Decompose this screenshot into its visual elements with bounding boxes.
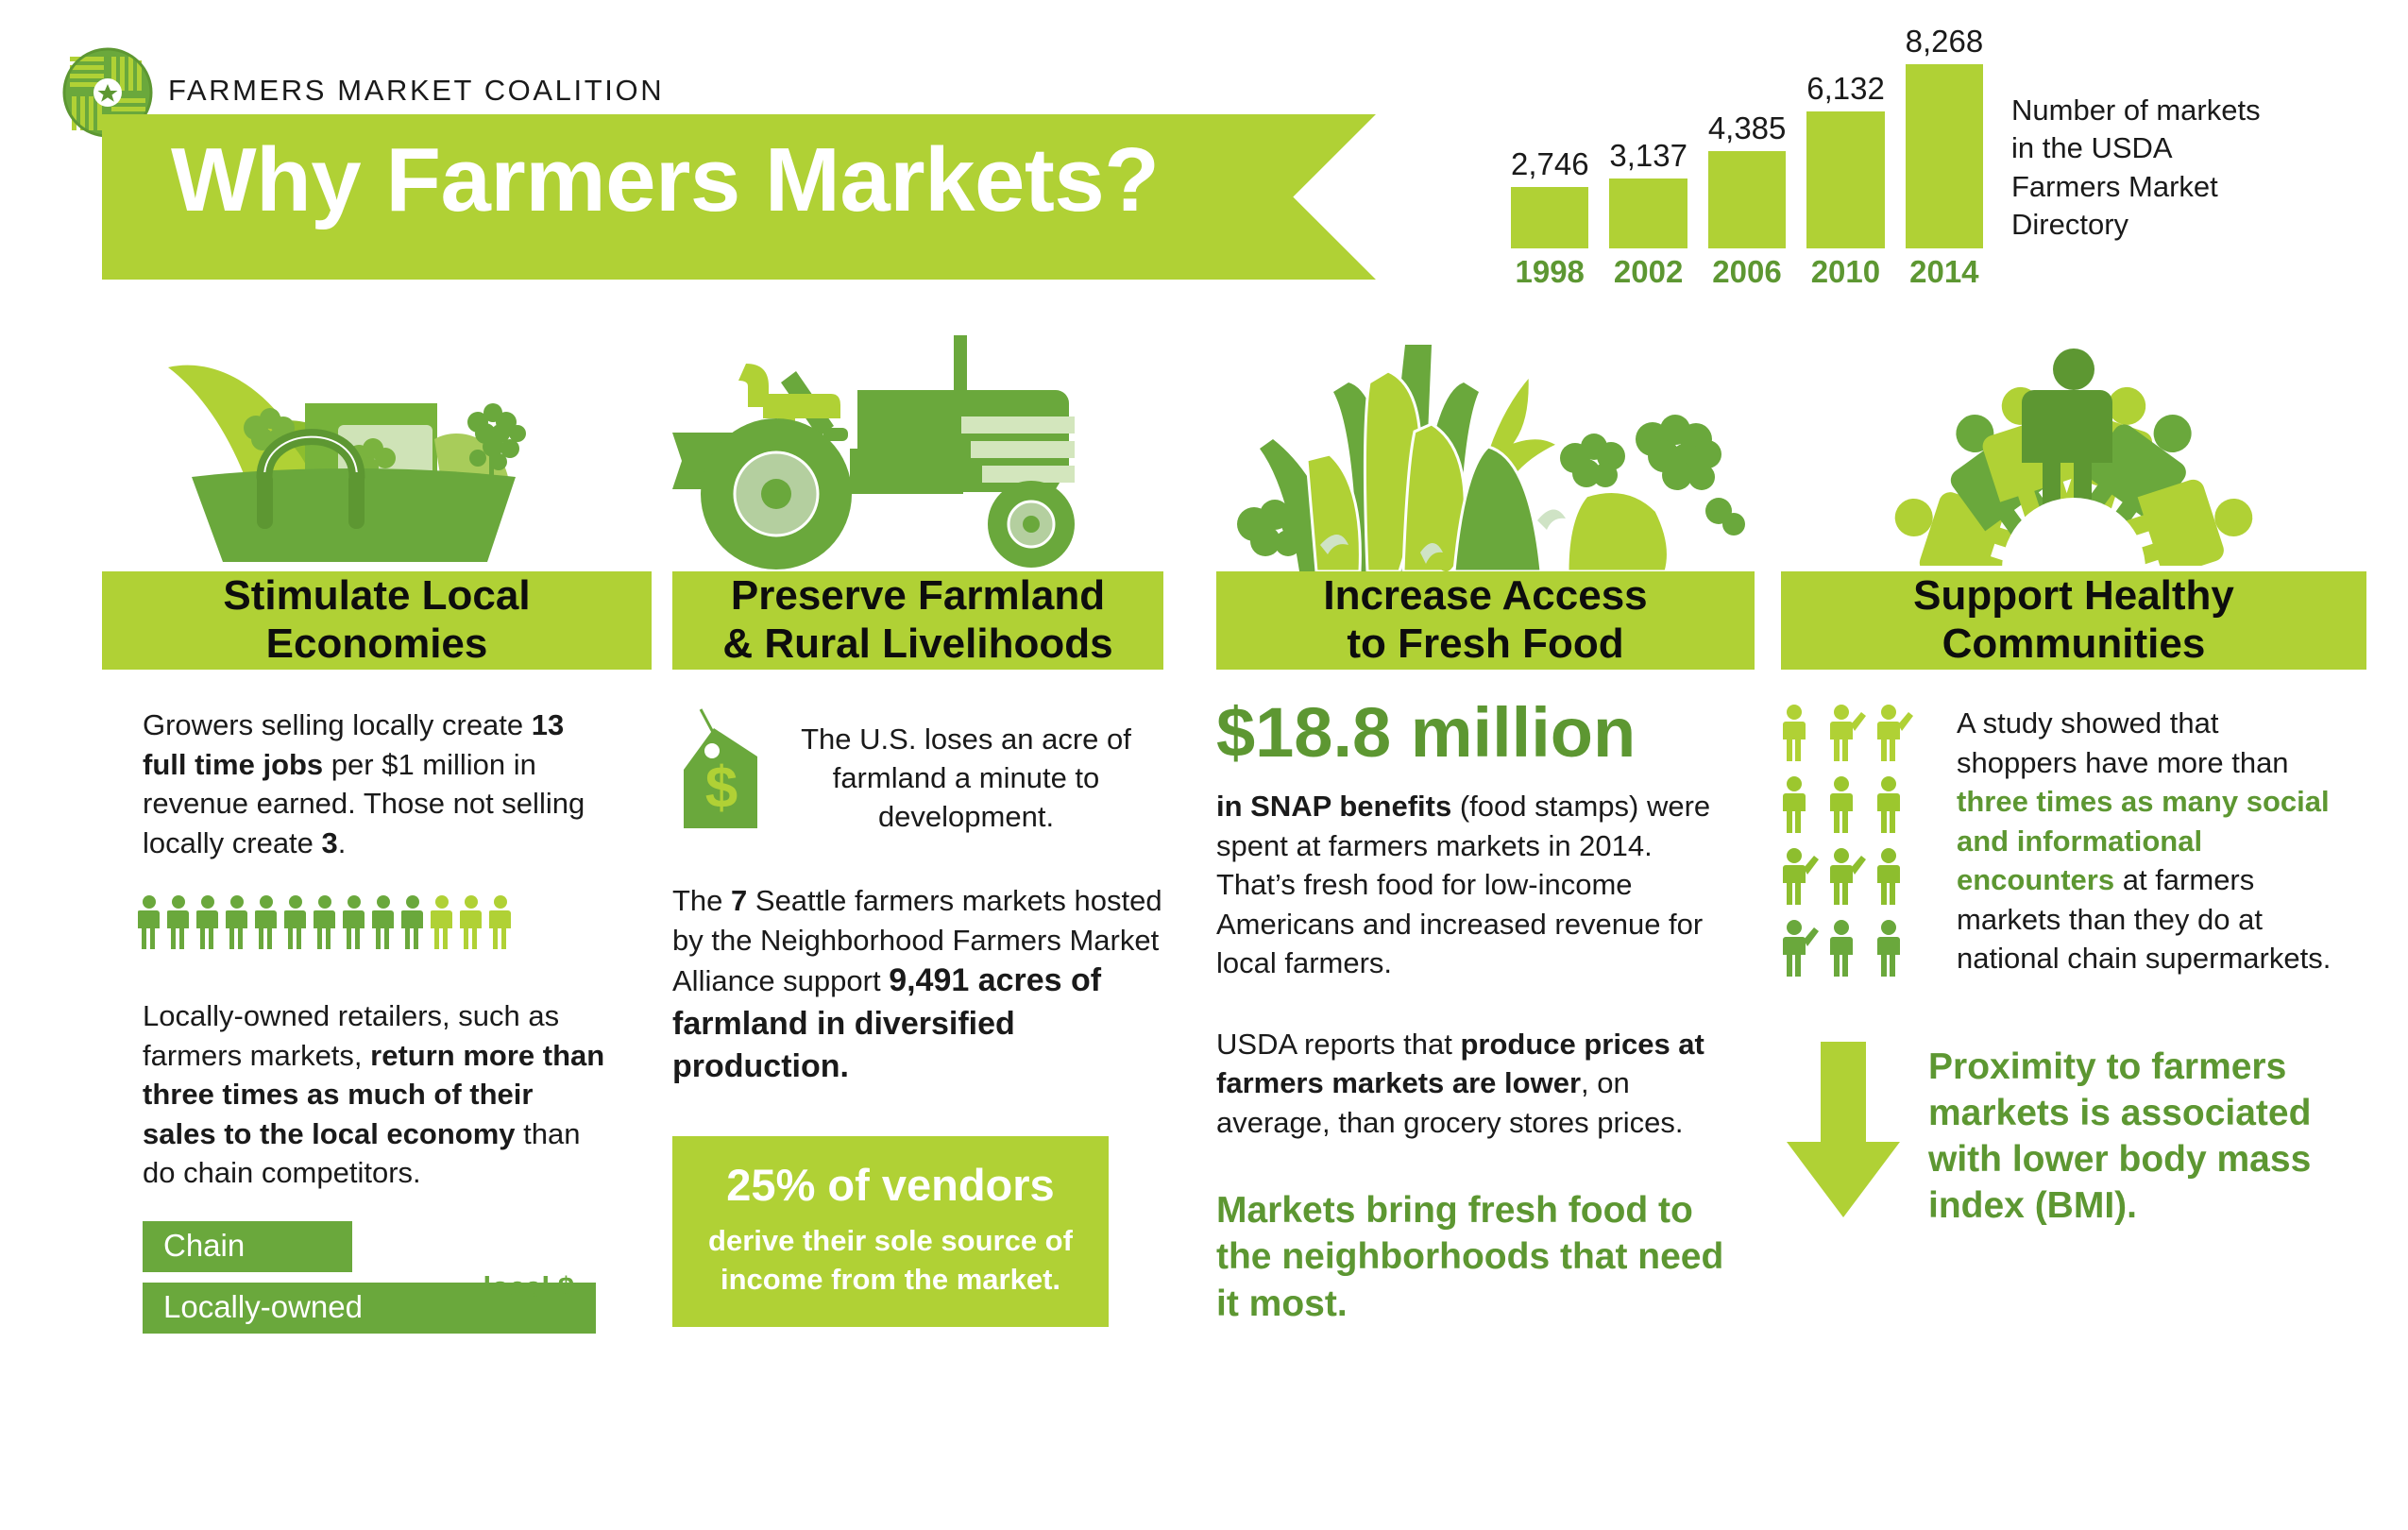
text-part: USDA reports that — [1216, 1028, 1460, 1061]
person-icon — [1875, 775, 1915, 834]
snap-big-number: $18.8 million — [1216, 698, 1755, 768]
local-dollar-axis-label: local $ — [483, 1270, 575, 1304]
heading-line-1: Stimulate Local — [223, 572, 530, 619]
person-icon — [1828, 919, 1868, 977]
person-icon — [489, 894, 512, 951]
person-icon — [1781, 704, 1821, 762]
bar-value-label: 2,746 — [1511, 146, 1588, 187]
person-icon — [167, 894, 190, 951]
text-bold: in SNAP benefits — [1216, 790, 1451, 823]
bar-value-label: 6,132 — [1806, 71, 1884, 111]
community-people-fan-icon — [1781, 335, 2366, 571]
callout-headline: 25% of vendors — [682, 1161, 1099, 1210]
pictogram-row — [1781, 704, 1932, 762]
usda-markets-bar-chart: 2,746 3,137 4,385 6,132 8,268 1998 200 — [1511, 52, 2002, 297]
column-increase-access: Increase Accessto Fresh Food $18.8 milli… — [1216, 335, 1755, 1327]
bar — [1511, 187, 1588, 248]
chain-vs-local-bar-comparison: Chain local $ Locally-owned — [102, 1221, 652, 1334]
x-tick-label: 2010 — [1806, 254, 1884, 290]
bar-column: 4,385 — [1708, 151, 1786, 248]
text-bold: 3 — [322, 826, 338, 859]
person-icon — [1875, 847, 1915, 906]
text-part: . — [338, 826, 347, 859]
x-tick-label: 2006 — [1708, 254, 1786, 290]
chart-caption: Number of markets in the USDA Farmers Ma… — [2011, 92, 2266, 244]
person-icon — [196, 894, 219, 951]
pictogram-row — [1781, 919, 1932, 977]
x-tick-label: 2002 — [1609, 254, 1687, 290]
heading-line-1: Support Healthy — [1913, 572, 2234, 619]
section-heading-increase-access: Increase Accessto Fresh Food — [1216, 571, 1755, 670]
pictogram-row — [1781, 847, 1932, 906]
paragraph-snap: in SNAP benefits (food stamps) were spen… — [1216, 787, 1726, 983]
bar-column: 3,137 — [1609, 178, 1687, 248]
person-icon — [1781, 919, 1821, 977]
person-icon — [226, 894, 248, 951]
section-heading-preserve-farmland: Preserve Farmland& Rural Livelihoods — [672, 571, 1163, 670]
bmi-text: Proximity to farmers markets is associat… — [1928, 1036, 2334, 1230]
paragraph-jobs: Growers selling locally create 13 full t… — [102, 705, 612, 862]
farmland-loss-callout: $ The U.S. loses an acre of farmland a m… — [672, 707, 1163, 840]
heading-line-1: Increase Access — [1323, 572, 1647, 619]
farmland-loss-text: The U.S. loses an acre of farmland a min… — [791, 707, 1141, 837]
infographic-canvas: FARMERS MARKET COALITION Why Farmers Mar… — [0, 0, 2408, 1530]
person-icon — [1828, 847, 1868, 906]
heading-line-2: Economies — [266, 620, 488, 667]
column-support-healthy-communities: Support HealthyCommunities — [1781, 335, 2366, 1230]
heading-line-1: Preserve Farmland — [731, 572, 1105, 619]
highlight-markets-bring-fresh-food: Markets bring fresh food to the neighbor… — [1216, 1187, 1726, 1326]
person-icon — [431, 894, 453, 951]
title-banner: Why Farmers Markets? — [102, 114, 1376, 280]
page-title: Why Farmers Markets? — [171, 135, 1159, 226]
people-pictogram-13-jobs — [102, 894, 652, 951]
paragraph-seattle-markets: The 7 Seattle farmers markets hosted by … — [672, 881, 1163, 1089]
section-heading-support-healthy-communities: Support HealthyCommunities — [1781, 571, 2366, 670]
person-icon — [372, 894, 395, 951]
person-icon — [284, 894, 307, 951]
person-icon — [1828, 775, 1868, 834]
x-tick-label: 1998 — [1511, 254, 1588, 290]
paragraph-local-return: Locally-owned retailers, such as farmers… — [102, 996, 612, 1193]
heading-line-2: & Rural Livelihoods — [722, 620, 1112, 667]
bar-value-label: 3,137 — [1609, 138, 1687, 178]
person-icon — [460, 894, 483, 951]
paragraph-social-encounters: A study showed that shoppers have more t… — [1957, 704, 2334, 978]
x-tick-label: 2014 — [1906, 254, 1983, 290]
person-icon — [1781, 775, 1821, 834]
bar-value-label: 4,385 — [1708, 110, 1786, 151]
text-bold: 7 — [731, 884, 747, 917]
chart-bars: 2,746 3,137 4,385 6,132 8,268 — [1511, 64, 1983, 248]
heading-line-2: to Fresh Food — [1347, 620, 1623, 667]
person-icon — [314, 894, 336, 951]
heading-line-2: Communities — [1942, 620, 2206, 667]
chain-bar-label: Chain — [143, 1221, 352, 1272]
price-tag-dollar-icon: $ — [672, 707, 786, 840]
person-icon — [401, 894, 424, 951]
bar-column: 2,746 — [1511, 187, 1588, 248]
people-pictogram-grid — [1781, 704, 1932, 991]
person-icon — [1781, 847, 1821, 906]
market-basket-produce-icon — [102, 335, 652, 571]
bar-value-label: 8,268 — [1906, 24, 1983, 64]
text-part: A study showed that shoppers have more t… — [1957, 706, 2289, 779]
paragraph-usda-prices: USDA reports that produce prices at farm… — [1216, 1025, 1726, 1143]
person-icon — [1875, 919, 1915, 977]
tractor-icon — [672, 335, 1163, 571]
chart-x-axis-labels: 1998 2002 2006 2010 2014 — [1511, 254, 1983, 290]
bar-column: 8,268 — [1906, 64, 1983, 248]
person-icon — [1875, 704, 1915, 762]
bar — [1609, 178, 1687, 248]
text-part: Growers selling locally create — [143, 708, 532, 741]
bar — [1708, 151, 1786, 248]
organization-name: FARMERS MARKET COALITION — [168, 74, 664, 108]
text-part: The — [672, 884, 731, 917]
person-icon — [1828, 704, 1868, 762]
bar-column: 6,132 — [1806, 111, 1884, 248]
svg-text:$: $ — [705, 756, 738, 821]
callout-subtext: derive their sole source of income from … — [682, 1222, 1099, 1299]
social-encounters-block: A study showed that shoppers have more t… — [1781, 704, 2366, 991]
column-preserve-farmland: Preserve Farmland& Rural Livelihoods $ T… — [672, 335, 1163, 1327]
person-icon — [343, 894, 365, 951]
section-heading-stimulate-local-economies: Stimulate LocalEconomies — [102, 571, 652, 670]
down-arrow-icon — [1781, 1036, 1906, 1225]
person-icon — [255, 894, 278, 951]
column-stimulate-local-economies: Stimulate LocalEconomies Growers selling… — [102, 335, 652, 1334]
bmi-block: Proximity to farmers markets is associat… — [1781, 1036, 2366, 1230]
pictogram-row — [1781, 775, 1932, 834]
person-icon — [138, 894, 161, 951]
bar — [1906, 64, 1983, 248]
bar — [1806, 111, 1884, 248]
fresh-vegetables-icon — [1216, 335, 1755, 571]
vendor-income-callout-box: 25% of vendors derive their sole source … — [672, 1136, 1109, 1327]
